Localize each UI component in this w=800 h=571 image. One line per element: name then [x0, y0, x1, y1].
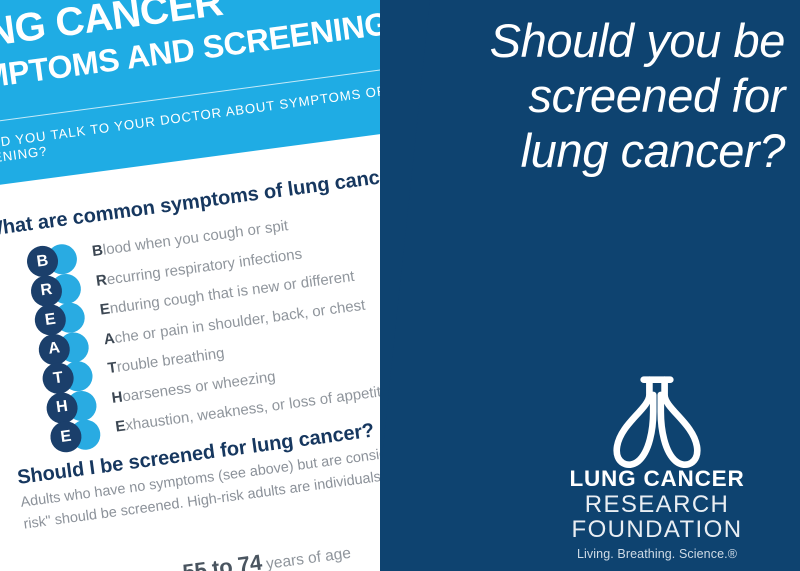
headline-line-2: screened for [425, 69, 785, 124]
breathe-row: R Recurring respiratory infections [29, 277, 33, 306]
bullet-1-post: years of age [261, 545, 352, 571]
lcrf-logo: LUNG CANCER RESEARCH FOUNDATION Living. … [542, 374, 772, 561]
logo-tagline: Living. Breathing. Science.® [542, 547, 772, 561]
headline-line-1: Should you be [425, 14, 785, 69]
breathe-acronym-list: B Blood when you cough or spit R Recurri… [25, 248, 52, 453]
logo-line-3: FOUNDATION [542, 517, 772, 542]
lung-flask-logo-mark [542, 374, 772, 469]
logo-line-1: LUNG CANCER [542, 467, 772, 492]
main-headline: Should you be screened for lung cancer? [425, 14, 785, 179]
headline-line-3: lung cancer? [425, 124, 785, 179]
symptom-text-5: rouble breathing [116, 345, 226, 376]
flyer-title: LUNG CANCER SYMPTOMS AND SCREENING [0, 0, 431, 99]
breathe-row: E Exhaustion, weakness, or loss of appet… [49, 423, 53, 452]
breathe-row: T Trouble breathing [41, 365, 45, 394]
bullet-1-age-range: 55 to 74 [181, 550, 263, 571]
bullet-1-pre: Are between [91, 567, 184, 571]
breathe-row: B Blood when you cough or spit [25, 248, 29, 277]
symptom-item-5: Trouble breathing [107, 345, 226, 377]
screenshot-root: LUNG CANCER SYMPTOMS AND SCREENING SHOUL… [0, 0, 800, 571]
breathe-row: A Ache or pain in shoulder, back, or che… [37, 336, 41, 365]
logo-line-2: RESEARCH [542, 492, 772, 517]
breathe-row: H Hoarseness or wheezing [45, 394, 49, 423]
breathe-row: E Enduring cough that is new or differen… [33, 307, 37, 336]
